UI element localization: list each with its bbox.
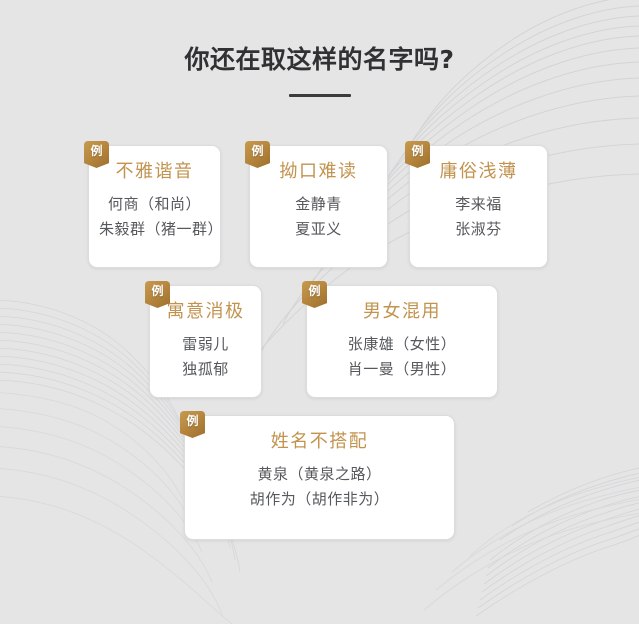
card-item-list: 何商（和尚） 朱毅群（猪一群）: [99, 192, 210, 242]
badge-label: 例: [84, 141, 109, 168]
card-item-list: 黄泉（黄泉之路） 胡作为（胡作非为）: [195, 462, 444, 512]
list-item: 张淑芬: [420, 217, 537, 242]
list-item: 金静青: [260, 192, 377, 217]
list-item: 李来福: [420, 192, 537, 217]
list-item: 张康雄（女性）: [317, 332, 487, 357]
example-card-ao-kou-nan-du[interactable]: 例 拗口难读 金静青 夏亚义: [249, 145, 388, 268]
card-title: 拗口难读: [260, 160, 377, 184]
title-divider: [289, 94, 351, 97]
badge-label: 例: [302, 281, 327, 308]
card-content: 姓名不搭配 黄泉（黄泉之路） 胡作为（胡作非为）: [185, 416, 454, 524]
example-badge: 例: [245, 141, 270, 168]
card-title: 不雅谐音: [99, 160, 210, 184]
page-header: 你还在取这样的名字吗?: [0, 44, 639, 97]
card-content: 庸俗浅薄 李来福 张淑芬: [410, 146, 547, 254]
list-item: 黄泉（黄泉之路）: [195, 462, 444, 487]
example-card-bu-ya-xie-yin[interactable]: 例 不雅谐音 何商（和尚） 朱毅群（猪一群）: [88, 145, 221, 268]
card-content: 男女混用 张康雄（女性） 肖一曼（男性）: [307, 286, 497, 394]
card-title: 姓名不搭配: [195, 430, 444, 454]
card-item-list: 雷弱儿 独孤郁: [160, 332, 251, 382]
list-item: 雷弱儿: [160, 332, 251, 357]
example-badge: 例: [145, 281, 170, 308]
card-title: 寓意消极: [160, 300, 251, 324]
example-badge: 例: [84, 141, 109, 168]
card-item-list: 李来福 张淑芬: [420, 192, 537, 242]
badge-label: 例: [180, 411, 205, 438]
list-item: 肖一曼（男性）: [317, 357, 487, 382]
example-card-yu-yi-xiao-ji[interactable]: 例 寓意消极 雷弱儿 独孤郁: [149, 285, 262, 398]
example-badge: 例: [405, 141, 430, 168]
badge-label: 例: [405, 141, 430, 168]
list-item: 独孤郁: [160, 357, 251, 382]
card-content: 拗口难读 金静青 夏亚义: [250, 146, 387, 254]
list-item: 夏亚义: [260, 217, 377, 242]
list-item: 朱毅群（猪一群）: [99, 217, 210, 242]
page-title: 你还在取这样的名字吗?: [0, 44, 639, 76]
list-item: 何商（和尚）: [99, 192, 210, 217]
badge-label: 例: [145, 281, 170, 308]
example-badge: 例: [180, 411, 205, 438]
example-card-yong-su-qian-bo[interactable]: 例 庸俗浅薄 李来福 张淑芬: [409, 145, 548, 268]
example-card-nan-nv-hun-yong[interactable]: 例 男女混用 张康雄（女性） 肖一曼（男性）: [306, 285, 498, 398]
card-item-list: 张康雄（女性） 肖一曼（男性）: [317, 332, 487, 382]
card-title: 庸俗浅薄: [420, 160, 537, 184]
example-badge: 例: [302, 281, 327, 308]
list-item: 胡作为（胡作非为）: [195, 487, 444, 512]
example-card-xing-ming-bu-da-pei[interactable]: 例 姓名不搭配 黄泉（黄泉之路） 胡作为（胡作非为）: [184, 415, 455, 540]
badge-label: 例: [245, 141, 270, 168]
card-title: 男女混用: [317, 300, 487, 324]
card-item-list: 金静青 夏亚义: [260, 192, 377, 242]
poster-canvas: 你还在取这样的名字吗? 例 不雅谐音 何商（和尚） 朱毅群（猪一群） 例 拗口难…: [0, 0, 639, 624]
